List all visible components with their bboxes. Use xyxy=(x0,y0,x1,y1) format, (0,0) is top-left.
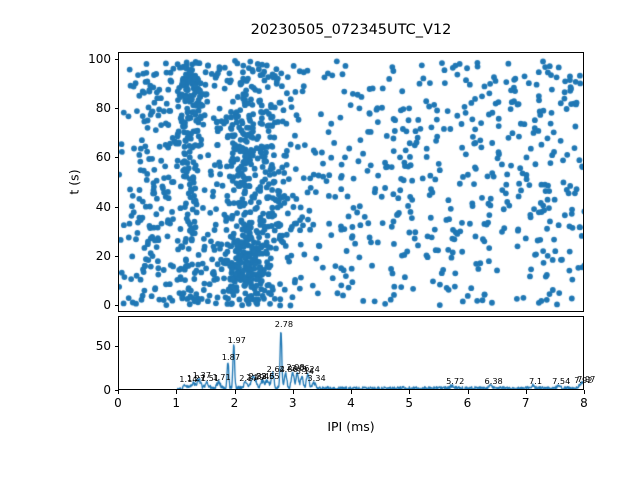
scatter-ytick-label: 40 xyxy=(56,200,111,214)
scatter-ytick-label: 60 xyxy=(56,150,111,164)
hist-xtick-label: 7 xyxy=(522,396,530,410)
scatter-ytick-mark xyxy=(115,157,119,158)
y-axis-label: t (s) xyxy=(67,169,82,194)
histogram-data-layer xyxy=(119,317,584,390)
hist-xtick-mark xyxy=(118,390,119,394)
scatter-plot-axes xyxy=(118,52,584,312)
figure-canvas: 20230505_072345UTC_V12 020406080100 t (s… xyxy=(0,0,640,480)
scatter-ytick-label: 80 xyxy=(56,101,111,115)
scatter-ytick-mark xyxy=(115,256,119,257)
hist-xtick-label: 0 xyxy=(114,396,122,410)
scatter-ytick-mark xyxy=(115,108,119,109)
figure-title: 20230505_072345UTC_V12 xyxy=(118,22,584,38)
hist-xtick-label: 1 xyxy=(172,396,180,410)
hist-ytick-mark xyxy=(115,346,119,347)
hist-ytick-label: 50 xyxy=(56,339,111,353)
scatter-ytick-label: 0 xyxy=(56,298,111,312)
hist-xtick-mark xyxy=(293,390,294,394)
scatter-ytick-label: 100 xyxy=(56,52,111,66)
hist-xtick-mark xyxy=(409,390,410,394)
scatter-ytick-label: 20 xyxy=(56,249,111,263)
hist-xtick-label: 2 xyxy=(231,396,239,410)
hist-xtick-mark xyxy=(584,390,585,394)
hist-xtick-mark xyxy=(526,390,527,394)
scatter-ytick-mark xyxy=(115,207,119,208)
hist-xtick-label: 6 xyxy=(464,396,472,410)
scatter-ytick-mark xyxy=(115,305,119,306)
hist-xtick-label: 8 xyxy=(580,396,588,410)
hist-ytick-label: 0 xyxy=(56,383,111,397)
scatter-data-layer xyxy=(119,53,584,312)
histogram-axes xyxy=(118,316,584,390)
hist-xtick-mark xyxy=(235,390,236,394)
hist-xtick-mark xyxy=(468,390,469,394)
hist-xtick-label: 5 xyxy=(405,396,413,410)
hist-xtick-mark xyxy=(351,390,352,394)
x-axis-label: IPI (ms) xyxy=(327,419,374,434)
hist-xtick-label: 4 xyxy=(347,396,355,410)
hist-ytick-mark xyxy=(115,390,119,391)
hist-xtick-mark xyxy=(176,390,177,394)
hist-xtick-label: 3 xyxy=(289,396,297,410)
scatter-ytick-mark xyxy=(115,59,119,60)
